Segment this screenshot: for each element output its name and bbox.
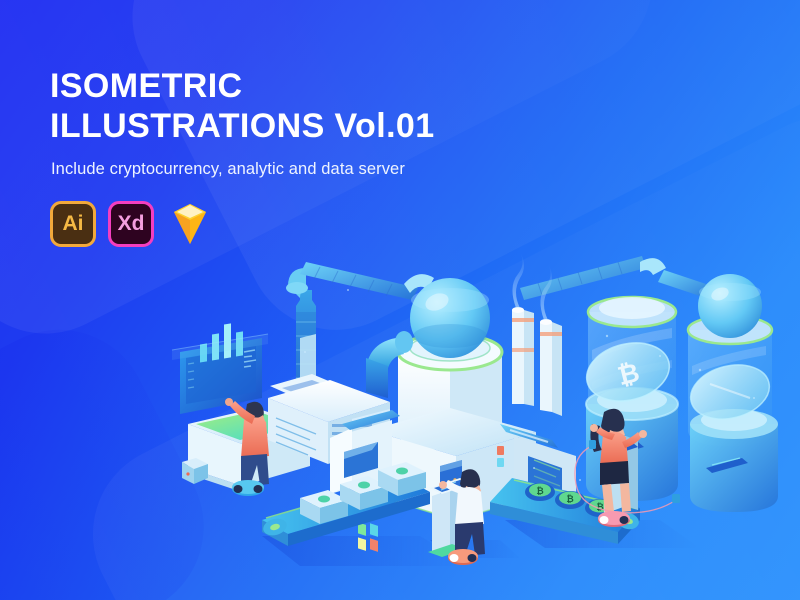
software-badges: Ai Xd [50, 200, 214, 248]
svg-text:₿: ₿ [566, 494, 573, 505]
title-line-1: ISOMETRIC [50, 66, 570, 106]
bitcoin-coin: ₿ [555, 491, 585, 509]
sketch-diamond-icon [166, 200, 214, 248]
adobe-illustrator-badge[interactable]: Ai [50, 201, 96, 247]
adobe-xd-label: Xd [118, 212, 145, 236]
title-line-2: ILLUSTRATIONS Vol.01 [50, 106, 570, 146]
sketch-badge[interactable] [166, 200, 214, 248]
adobe-illustrator-label: Ai [63, 212, 84, 236]
hero-headline: ISOMETRIC ILLUSTRATIONS Vol.01 [50, 66, 570, 146]
hero-subtitle: Include cryptocurrency, analytic and dat… [51, 160, 405, 179]
smokestacks [512, 252, 562, 416]
bitcoin-tank-right [685, 274, 778, 512]
svg-text:₿: ₿ [536, 486, 543, 497]
bitcoin-coin: ₿ [525, 483, 555, 501]
analytics-screen [172, 323, 268, 414]
adobe-xd-badge[interactable]: Xd [108, 201, 154, 247]
hero-banner: ₿ [0, 0, 800, 600]
